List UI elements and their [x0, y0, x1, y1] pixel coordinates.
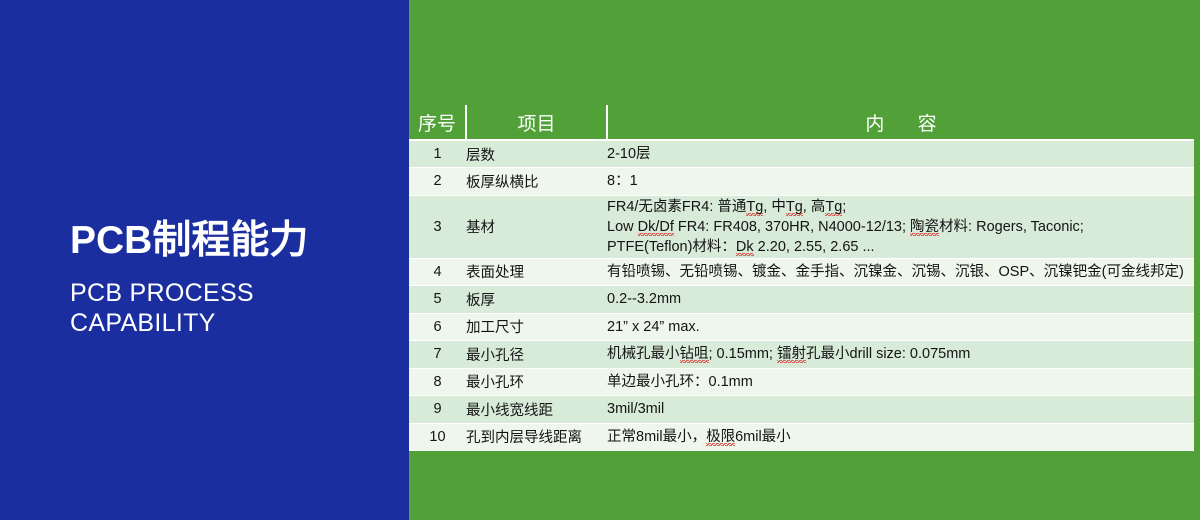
content-line: 8：1 — [607, 171, 1194, 191]
content-line: 机械孔最小钻咀; 0.15mm; 镭射孔最小drill size: 0.075m… — [607, 344, 1194, 364]
content-line: PTFE(Teflon)材料：Dk 2.20, 2.55, 2.65 ... — [607, 237, 1194, 257]
row-number: 4 — [409, 258, 466, 286]
row-content: 3mil/3mil — [607, 396, 1194, 424]
row-number: 5 — [409, 286, 466, 314]
left-blue-panel: PCB制程能力 PCB PROCESS CAPABILITY — [0, 0, 409, 520]
table-row: 1 层数 2-10层 — [409, 140, 1194, 168]
row-number: 8 — [409, 368, 466, 396]
column-header-no: 序号 — [409, 105, 466, 140]
table-row: 10 孔到内层导线距离 正常8mil最小，极限6mil最小 — [409, 423, 1194, 451]
table-row: 8 最小孔环 单边最小孔环：0.1mm — [409, 368, 1194, 396]
row-number: 9 — [409, 396, 466, 424]
page-title-english-line2: CAPABILITY — [70, 308, 400, 338]
table-row: 4 表面处理 有铅喷锡、无铅喷锡、镀金、金手指、沉镍金、沉锡、沉银、OSP、沉镍… — [409, 258, 1194, 286]
row-item: 加工尺寸 — [466, 313, 607, 341]
row-content: 机械孔最小钻咀; 0.15mm; 镭射孔最小drill size: 0.075m… — [607, 341, 1194, 369]
row-content: 正常8mil最小，极限6mil最小 — [607, 423, 1194, 451]
table-header-row: 序号 项目 内 容 — [409, 105, 1194, 140]
row-item: 最小孔环 — [466, 368, 607, 396]
content-line: Low Dk/Df FR4: FR408, 370HR, N4000-12/13… — [607, 217, 1194, 237]
page-title-chinese: PCB制程能力 — [70, 218, 400, 264]
row-content: 有铅喷锡、无铅喷锡、镀金、金手指、沉镍金、沉锡、沉银、OSP、沉镍钯金(可金线邦… — [607, 258, 1194, 286]
page-title-english-line1: PCB PROCESS — [70, 278, 400, 308]
page-title-english: PCB PROCESS CAPABILITY — [70, 278, 400, 338]
content-line: 单边最小孔环：0.1mm — [607, 372, 1194, 392]
table-row: 5 板厚 0.2--3.2mm — [409, 286, 1194, 314]
content-line: 21” x 24” max. — [607, 317, 1194, 337]
row-item: 板厚纵横比 — [466, 168, 607, 196]
slide-root: PCB制程能力 PCB PROCESS CAPABILITY 序号 项目 内 容 — [0, 0, 1200, 520]
row-number: 6 — [409, 313, 466, 341]
table-body: 1 层数 2-10层 2 板厚纵横比 8：1 — [409, 140, 1194, 451]
table-row: 6 加工尺寸 21” x 24” max. — [409, 313, 1194, 341]
row-item: 板厚 — [466, 286, 607, 314]
row-item: 最小线宽线距 — [466, 396, 607, 424]
row-item: 层数 — [466, 140, 607, 168]
column-header-item: 项目 — [466, 105, 607, 140]
content-line: 0.2--3.2mm — [607, 289, 1194, 309]
spec-table-wrapper: 序号 项目 内 容 1 层数 2-10层 — [409, 105, 1194, 445]
table-row: 2 板厚纵横比 8：1 — [409, 168, 1194, 196]
row-content: 0.2--3.2mm — [607, 286, 1194, 314]
row-number: 3 — [409, 195, 466, 258]
row-number: 1 — [409, 140, 466, 168]
content-line: 正常8mil最小，极限6mil最小 — [607, 427, 1194, 447]
row-item: 孔到内层导线距离 — [466, 423, 607, 451]
row-number: 2 — [409, 168, 466, 196]
content-line: FR4/无卤素FR4: 普通Tg, 中Tg, 高Tg; — [607, 197, 1194, 217]
row-content: FR4/无卤素FR4: 普通Tg, 中Tg, 高Tg; Low Dk/Df FR… — [607, 195, 1194, 258]
table-row: 3 基材 FR4/无卤素FR4: 普通Tg, 中Tg, 高Tg; Low Dk/… — [409, 195, 1194, 258]
column-header-content: 内 容 — [607, 105, 1194, 140]
row-content: 8：1 — [607, 168, 1194, 196]
table-row: 7 最小孔径 机械孔最小钻咀; 0.15mm; 镭射孔最小drill size:… — [409, 341, 1194, 369]
spec-table: 序号 项目 内 容 1 层数 2-10层 — [409, 105, 1194, 451]
row-number: 10 — [409, 423, 466, 451]
title-block: PCB制程能力 PCB PROCESS CAPABILITY — [70, 218, 400, 338]
content-line: 有铅喷锡、无铅喷锡、镀金、金手指、沉镍金、沉锡、沉银、OSP、沉镍钯金(可金线邦… — [607, 262, 1194, 282]
row-content: 2-10层 — [607, 140, 1194, 168]
table-row: 9 最小线宽线距 3mil/3mil — [409, 396, 1194, 424]
table-header: 序号 项目 内 容 — [409, 105, 1194, 140]
content-line: 3mil/3mil — [607, 399, 1194, 419]
row-item: 基材 — [466, 195, 607, 258]
row-item: 最小孔径 — [466, 341, 607, 369]
row-content: 21” x 24” max. — [607, 313, 1194, 341]
row-content: 单边最小孔环：0.1mm — [607, 368, 1194, 396]
column-header-content-label: 内 容 — [851, 114, 950, 135]
row-number: 7 — [409, 341, 466, 369]
row-item: 表面处理 — [466, 258, 607, 286]
content-line: 2-10层 — [607, 144, 1194, 164]
